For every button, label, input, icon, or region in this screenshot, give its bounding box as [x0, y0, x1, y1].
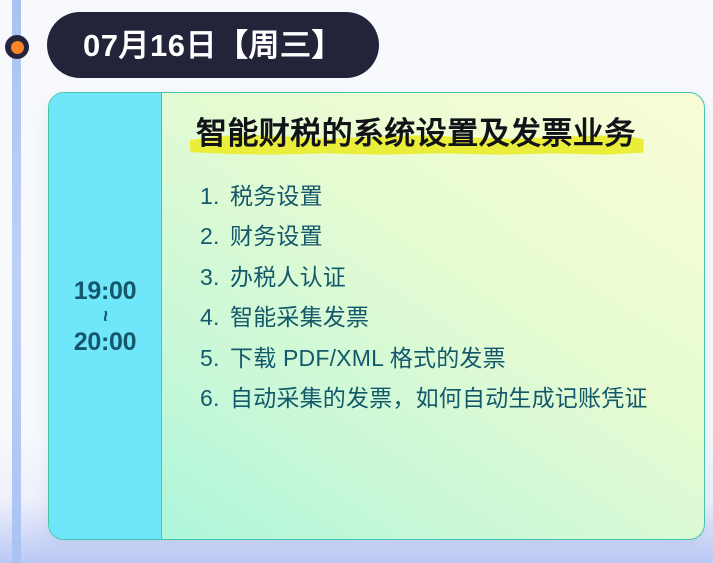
agenda-item-text: 税务设置 — [230, 181, 686, 211]
agenda-item-index: 3. — [200, 262, 230, 292]
session-end-time: 20:00 — [74, 328, 136, 356]
session-time-column: 19:00 ~ 20:00 — [49, 93, 162, 539]
agenda-item: 3. 办税人认证 — [200, 262, 686, 292]
agenda-item: 5. 下载 PDF/XML 格式的发票 — [200, 343, 686, 373]
agenda-item: 2. 财务设置 — [200, 221, 686, 251]
session-title-wrap: 智能财税的系统设置及发票业务 — [196, 117, 636, 151]
agenda-item-text: 自动采集的发票，如何自动生成记账凭证 — [230, 383, 686, 413]
agenda-item-index: 2. — [200, 221, 230, 251]
timeline-rail — [12, 0, 21, 563]
agenda-item-text: 财务设置 — [230, 221, 686, 251]
agenda-item-text: 下载 PDF/XML 格式的发票 — [230, 343, 686, 373]
session-agenda-list: 1. 税务设置 2. 财务设置 3. 办税人认证 4. 智能采集发票 5. — [200, 181, 686, 413]
agenda-item-text: 智能采集发票 — [230, 302, 686, 332]
date-header-pill[interactable]: 07月16日【周三】 — [47, 12, 379, 78]
session-time-separator: ~ — [95, 310, 115, 322]
agenda-item-index: 4. — [200, 302, 230, 332]
schedule-page: 07月16日【周三】 19:00 ~ 20:00 智能财税的系统设置及发票业务 … — [0, 0, 713, 563]
session-title: 智能财税的系统设置及发票业务 — [196, 116, 636, 151]
timeline-dot-inner — [11, 41, 24, 54]
agenda-item: 1. 税务设置 — [200, 181, 686, 211]
agenda-item-index: 1. — [200, 181, 230, 211]
timeline-dot-icon — [5, 35, 29, 59]
agenda-item-text: 办税人认证 — [230, 262, 686, 292]
agenda-item: 4. 智能采集发票 — [200, 302, 686, 332]
agenda-item-index: 5. — [200, 343, 230, 373]
session-card[interactable]: 19:00 ~ 20:00 智能财税的系统设置及发票业务 1. 税务设置 2. … — [48, 92, 705, 540]
agenda-item: 6. 自动采集的发票，如何自动生成记账凭证 — [200, 383, 686, 413]
session-start-time: 19:00 — [74, 277, 136, 305]
date-header-label: 07月16日【周三】 — [83, 30, 343, 61]
agenda-item-index: 6. — [200, 383, 230, 413]
session-content-column: 智能财税的系统设置及发票业务 1. 税务设置 2. 财务设置 3. 办税人认证 … — [162, 93, 704, 539]
